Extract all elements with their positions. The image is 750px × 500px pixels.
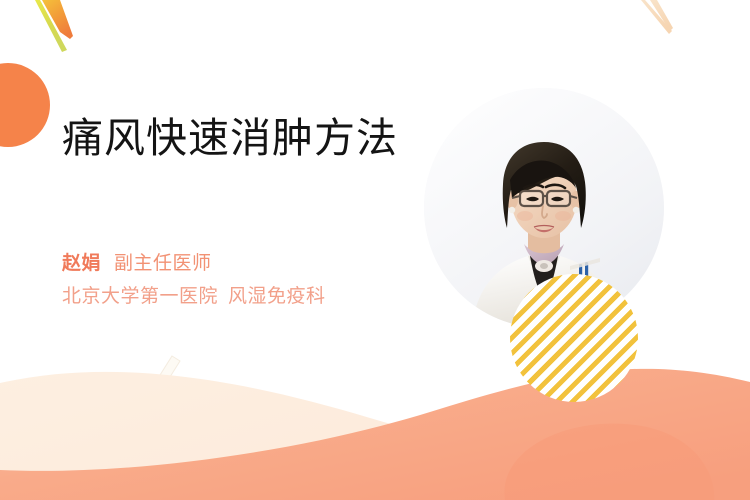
doctor-affiliation-line: 北京大学第一医院风湿免疫科 xyxy=(62,280,326,314)
faint-diagonal-bar-icon xyxy=(150,356,180,396)
wave-dark-highlight xyxy=(504,424,714,500)
doctor-name: 赵娟 xyxy=(62,253,101,274)
doctor-name-line: 赵娟副主任医师 xyxy=(62,248,326,280)
striped-accent-circle-icon xyxy=(510,274,638,402)
promo-card: 痛风快速消肿方法 赵娟副主任医师 北京大学第一医院风湿免疫科 xyxy=(0,0,750,500)
thin-diagonal-line-icon xyxy=(35,0,67,52)
orange-accent-circle-icon xyxy=(0,63,50,147)
doctor-hospital: 北京大学第一医院 xyxy=(62,286,218,307)
doctor-department: 风湿免疫科 xyxy=(228,286,326,307)
doctor-info-block: 赵娟副主任医师 北京大学第一医院风湿免疫科 xyxy=(62,248,326,314)
doctor-rank: 副主任医师 xyxy=(114,253,212,274)
top-right-line-2-icon xyxy=(650,0,673,31)
page-title: 痛风快速消肿方法 xyxy=(62,113,398,163)
top-right-line-1-icon xyxy=(641,0,672,34)
portrait-composite xyxy=(424,88,664,328)
orange-diagonal-stripe-icon xyxy=(42,0,73,39)
